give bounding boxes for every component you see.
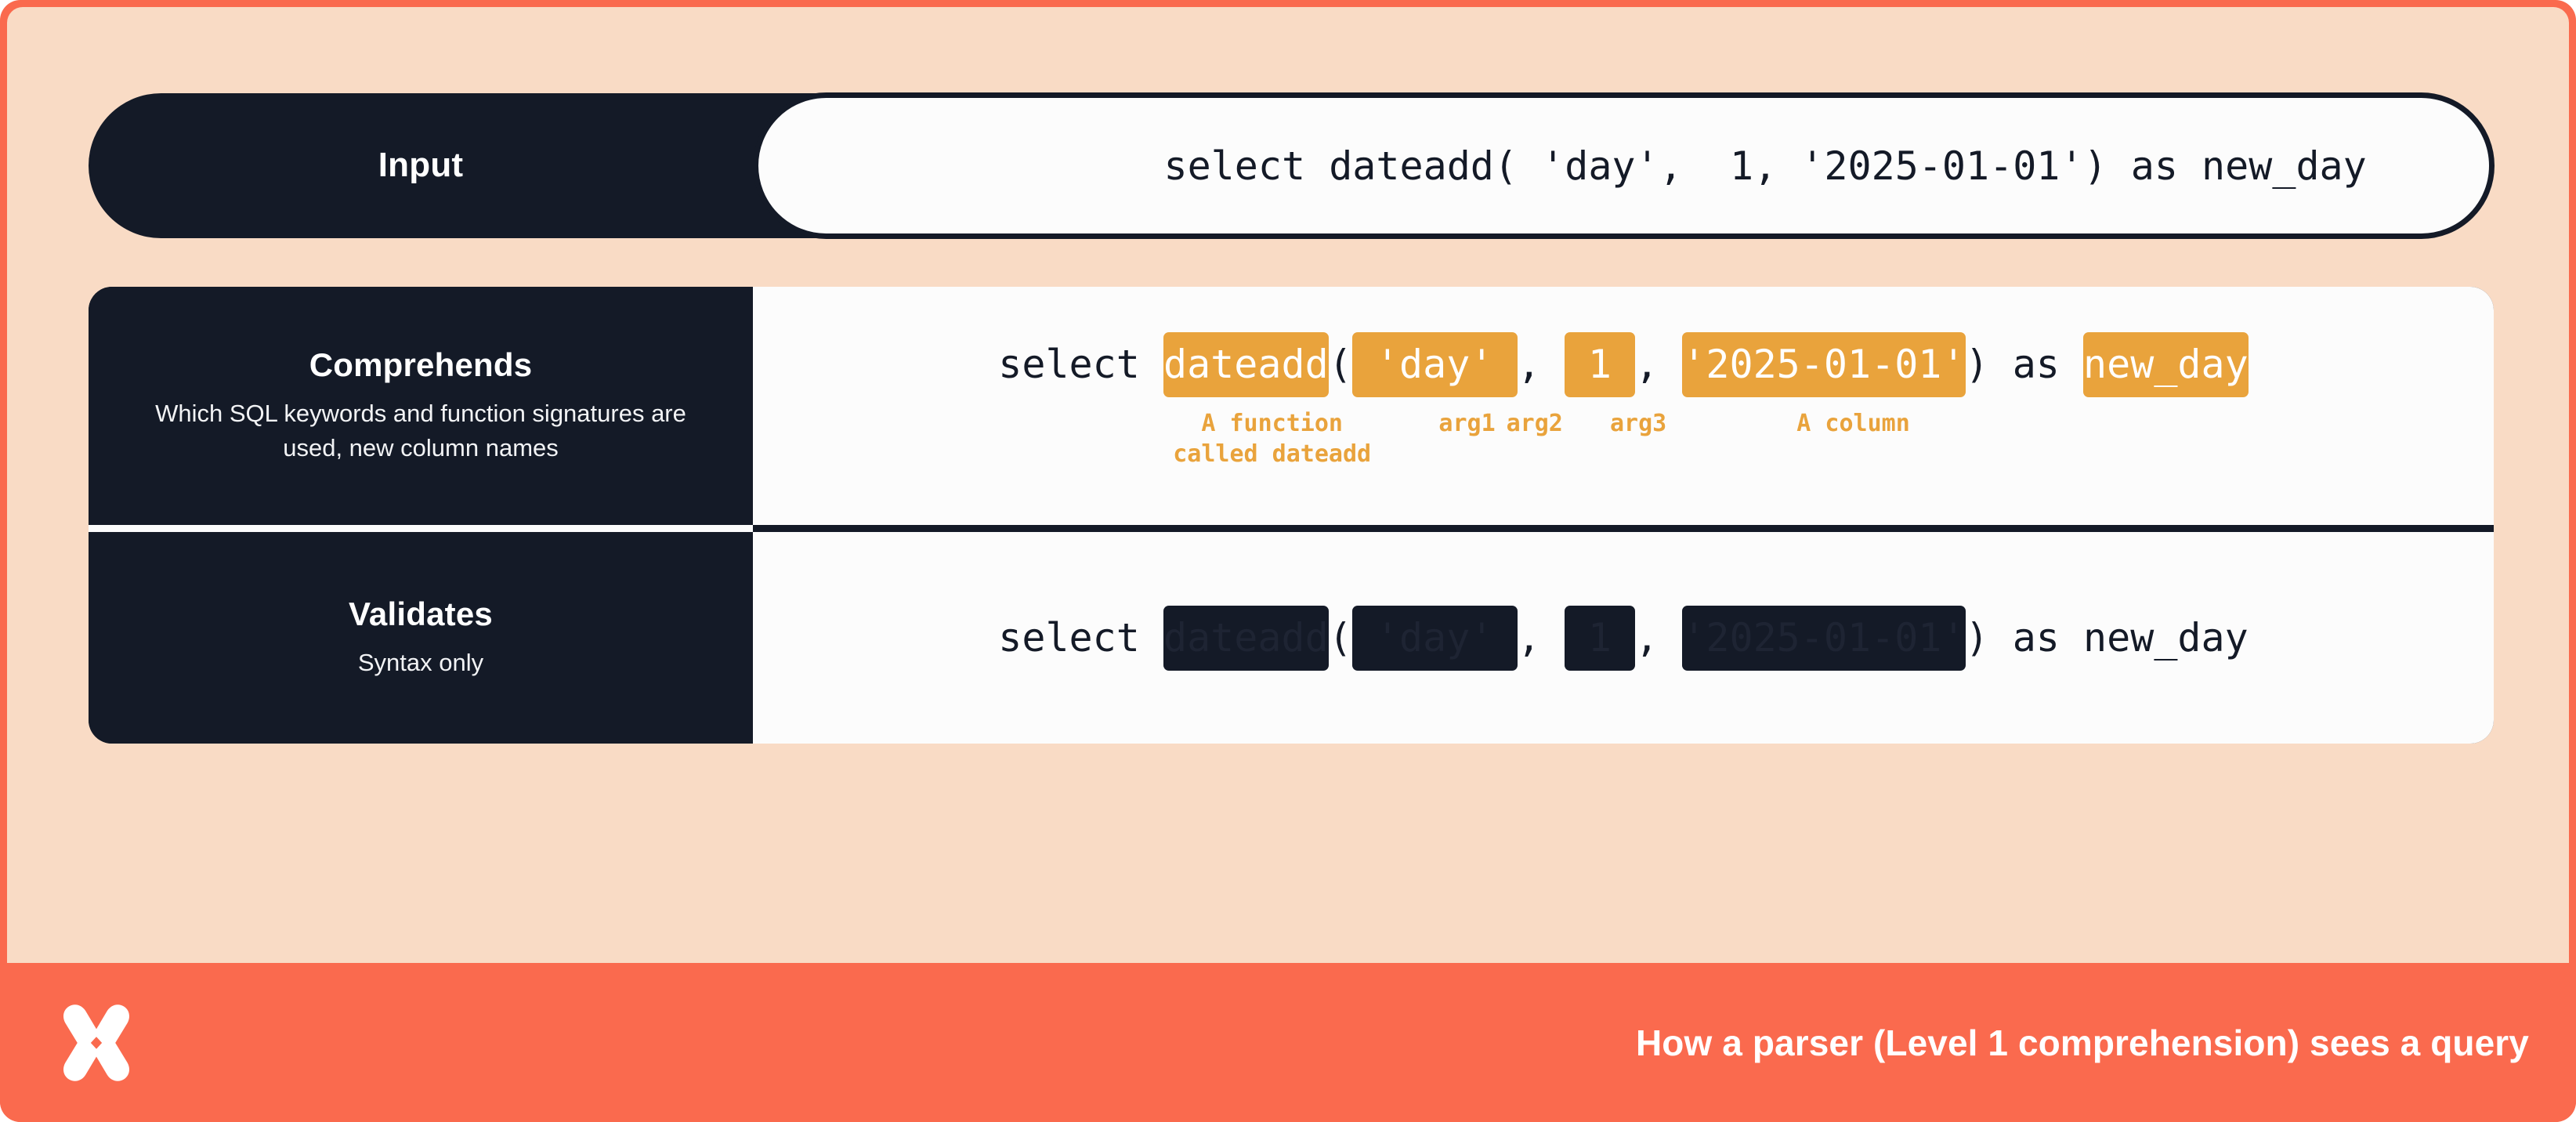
code-token-redacted-function: dateadd xyxy=(1163,606,1329,671)
comprehends-annotations: A function called dateadd arg1 arg2 arg3… xyxy=(998,408,2248,480)
validates-code-cell: select dateadd( 'day' , 1 , '2025-01-01'… xyxy=(753,532,2494,744)
annotation-arg3: arg3 xyxy=(1610,408,1666,440)
comprehends-code-cell: select dateadd( 'day' , 1 , '2025-01-01'… xyxy=(753,287,2494,525)
code-token: , xyxy=(1659,143,1730,189)
input-label-cell: Input xyxy=(89,93,753,238)
code-token: , xyxy=(1518,345,1565,384)
row-comprehends: Comprehends Which SQL keywords and funct… xyxy=(89,287,2494,525)
divider-left xyxy=(89,525,753,532)
poster-body: Input select dateadd( 'day', 1, '2025-01… xyxy=(7,7,2569,963)
code-token: 'day' xyxy=(1541,143,1659,189)
comprehends-code-line: select dateadd( 'day' , 1 , '2025-01-01'… xyxy=(998,332,2248,397)
code-token: ( xyxy=(1494,143,1541,189)
divider-right xyxy=(753,525,2494,532)
code-token: ( xyxy=(1329,345,1352,384)
validates-label: Validates xyxy=(349,595,493,633)
x-logo-icon xyxy=(53,1000,139,1086)
footer-caption: How a parser (Level 1 comprehension) see… xyxy=(1636,1022,2529,1064)
code-token-column: new_day xyxy=(2083,332,2249,397)
code-token-redacted-arg3: '2025-01-01' xyxy=(1682,606,1965,671)
code-token-redacted-arg1: 'day' xyxy=(1352,606,1518,671)
row-input: Input select dateadd( 'day', 1, '2025-01… xyxy=(89,93,2494,238)
code-token: , xyxy=(1753,143,1800,189)
code-token: ) as xyxy=(1966,618,2084,657)
code-token-function: dateadd xyxy=(1163,332,1329,397)
annotation-arg1: arg1 xyxy=(1438,408,1495,440)
code-token: select xyxy=(998,345,1163,384)
code-token: 1 xyxy=(1730,143,1753,189)
row-validates: Validates Syntax only select dateadd( 'd… xyxy=(89,532,2494,744)
comprehends-code-stack: select dateadd( 'day' , 1 , '2025-01-01'… xyxy=(998,332,2248,480)
code-token: new_day xyxy=(2202,143,2367,189)
validates-code-line: select dateadd( 'day' , 1 , '2025-01-01'… xyxy=(998,606,2248,671)
input-code-cell: select dateadd( 'day', 1, '2025-01-01') … xyxy=(753,92,2495,239)
footer-bar: How a parser (Level 1 comprehension) see… xyxy=(0,963,2576,1122)
validates-description: Syntax only xyxy=(358,646,483,680)
code-token-arg1: 'day' xyxy=(1352,332,1518,397)
code-token: , xyxy=(1635,618,1682,657)
annotation-function: A function called dateadd xyxy=(1173,408,1371,471)
comprehends-label: Comprehends xyxy=(309,346,533,384)
code-token-arg3: '2025-01-01' xyxy=(1682,332,1965,397)
annotation-column: A column xyxy=(1796,408,1910,440)
code-token: select xyxy=(998,618,1163,657)
code-token-redacted-arg2: 1 xyxy=(1565,606,1635,671)
input-code-line: select dateadd( 'day', 1, '2025-01-01') … xyxy=(881,107,2367,225)
code-token: '2025-01-01' xyxy=(1800,143,2083,189)
annotation-arg2: arg2 xyxy=(1507,408,1563,440)
poster-frame: Input select dateadd( 'day', 1, '2025-01… xyxy=(0,0,2576,1122)
code-token: , xyxy=(1635,345,1682,384)
rows-container: Input select dateadd( 'day', 1, '2025-01… xyxy=(89,93,2494,744)
code-token: , xyxy=(1518,618,1565,657)
code-token: ) as xyxy=(1966,345,2084,384)
comprehends-label-cell: Comprehends Which SQL keywords and funct… xyxy=(89,287,753,525)
code-token: dateadd xyxy=(1329,143,1494,189)
code-token: ( xyxy=(1329,618,1352,657)
code-token-arg2: 1 xyxy=(1565,332,1635,397)
code-token: select xyxy=(1163,143,1329,189)
input-label: Input xyxy=(378,146,464,186)
row-divider xyxy=(89,525,2494,532)
parser-card: Comprehends Which SQL keywords and funct… xyxy=(89,287,2494,744)
validates-label-cell: Validates Syntax only xyxy=(89,532,753,744)
code-token: new_day xyxy=(2083,618,2249,657)
code-token: ) as xyxy=(2084,143,2202,189)
comprehends-description: Which SQL keywords and function signatur… xyxy=(123,396,718,465)
